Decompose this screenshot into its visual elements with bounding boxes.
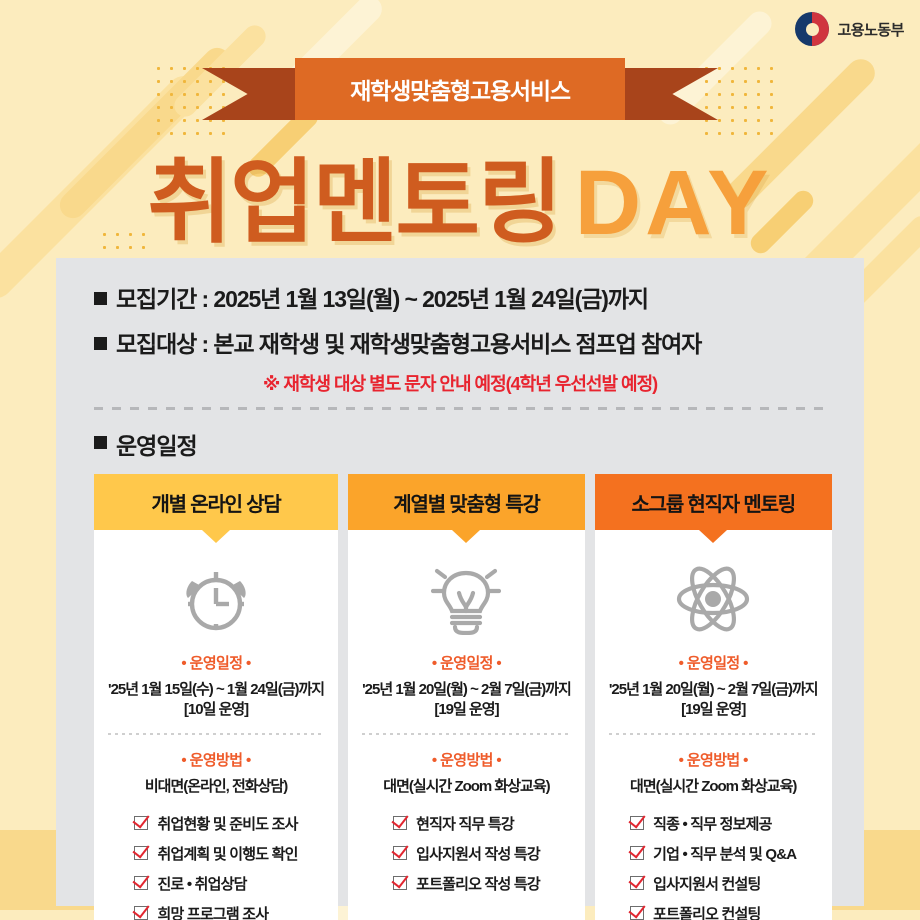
list-item: 취업계획 및 이행도 확인: [134, 843, 297, 864]
square-bullet-icon: [94, 337, 107, 350]
schedule-value: '25년 1월 15일(수) ~ 1월 24일(금)까지 [10일 운영]: [108, 680, 324, 721]
recruit-period-text: 모집기간 : 2025년 1월 13일(월) ~ 2025년 1월 24일(금)…: [116, 280, 648, 314]
program-column-group-mentoring: 소그룹 현직자 멘토링 • 운영일정 • '25년 1월 2: [595, 474, 832, 920]
lightbulb-icon: [431, 556, 501, 642]
recruit-note: ※ 재학생 대상 별도 문자 안내 예정(4학년 우선선발 예정): [94, 370, 826, 396]
schedule-value: '25년 1월 20일(월) ~ 2월 7일(금)까지 [19일 운영]: [362, 680, 571, 721]
column-header-label: 소그룹 현직자 멘토링: [631, 488, 795, 517]
schedule-value: '25년 1월 20일(월) ~ 2월 7일(금)까지 [19일 운영]: [609, 680, 818, 721]
list-item-label: 기업 • 직무 분석 및 Q&A: [653, 843, 796, 864]
ministry-logo: 고용노동부: [795, 12, 904, 46]
column-header-label: 계열별 맞춤형 특강: [393, 488, 539, 517]
list-item: 취업현황 및 준비도 조사: [134, 813, 297, 834]
list-item: 진로 • 취업상담: [134, 873, 297, 894]
list-item: 포트폴리오 컨설팅: [630, 903, 796, 920]
program-columns: 개별 온라인 상담: [94, 474, 826, 920]
list-item: 포트폴리오 작성 특강: [393, 873, 540, 894]
column-header-label: 개별 온라인 상담: [151, 488, 280, 517]
list-item-label: 직종 • 직무 정보제공: [653, 813, 772, 834]
schedule-section-heading: 운영일정: [94, 427, 826, 461]
recruit-target-row: 모집대상 : 본교 재학생 및 재학생맞춤형고용서비스 점프업 참여자: [94, 325, 826, 359]
checkbox-checked-icon: [134, 816, 148, 830]
list-item: 입사지원서 작성 특강: [393, 843, 540, 864]
program-column-special-lecture: 계열별 맞춤형 특강: [348, 474, 585, 920]
inner-divider: [108, 733, 324, 735]
checkbox-checked-icon: [134, 876, 148, 890]
inner-divider: [609, 733, 818, 735]
list-item-label: 포트폴리오 작성 특강: [416, 873, 540, 894]
header-notch-icon: [452, 530, 480, 543]
method-value: 대면(실시간 Zoom 화상교육): [383, 777, 549, 797]
poster-title: 취업멘토링DAY: [0, 128, 920, 261]
poster-root: 고용노동부 재학생맞춤형고용서비스 취업멘토링DAY 모집기간 : 2025년 …: [0, 0, 920, 920]
checklist: 현직자 직무 특강 입사지원서 작성 특강 포트폴리오 작성 특강: [393, 813, 540, 903]
checkbox-checked-icon: [630, 906, 644, 920]
method-value: 비대면(온라인, 전화상담): [145, 777, 287, 797]
schedule-label: • 운영일정 •: [432, 652, 501, 673]
header-notch-icon: [699, 530, 727, 543]
checkbox-checked-icon: [393, 876, 407, 890]
list-item-label: 입사지원서 컨설팅: [653, 873, 760, 894]
list-item-label: 입사지원서 작성 특강: [416, 843, 540, 864]
schedule-label: • 운영일정 •: [679, 652, 748, 673]
header-notch-icon: [202, 530, 230, 543]
schedule-label: • 운영일정 •: [181, 652, 250, 673]
column-header: 개별 온라인 상담: [94, 474, 338, 530]
title-english: DAY: [575, 152, 773, 254]
method-label: • 운영방법 •: [679, 749, 748, 770]
list-item: 희망 프로그램 조사: [134, 903, 297, 920]
checkbox-checked-icon: [134, 906, 148, 920]
checkbox-checked-icon: [393, 846, 407, 860]
list-item: 입사지원서 컨설팅: [630, 873, 796, 894]
square-bullet-icon: [94, 292, 107, 305]
checkbox-checked-icon: [134, 846, 148, 860]
checkbox-checked-icon: [393, 816, 407, 830]
title-korean: 취업멘토링: [148, 152, 561, 254]
list-item-label: 희망 프로그램 조사: [157, 903, 268, 920]
schedule-value-main: '25년 1월 20일(월) ~ 2월 7일(금)까지: [362, 681, 571, 698]
list-item-label: 현직자 직무 특강: [416, 813, 514, 834]
list-item: 기업 • 직무 분석 및 Q&A: [630, 843, 796, 864]
column-body: • 운영일정 • '25년 1월 15일(수) ~ 1월 24일(금)까지 [1…: [94, 530, 338, 920]
alarm-clock-icon: [179, 556, 253, 642]
taegeuk-icon: [795, 12, 829, 46]
schedule-value-sub: [19일 운영]: [609, 700, 818, 720]
ribbon-label: 재학생맞춤형고용서비스: [350, 72, 570, 106]
program-column-online-counseling: 개별 온라인 상담: [94, 474, 338, 920]
checkbox-checked-icon: [630, 846, 644, 860]
ribbon-label-box: 재학생맞춤형고용서비스: [295, 58, 625, 120]
list-item-label: 취업현황 및 준비도 조사: [157, 813, 297, 834]
column-header: 계열별 맞춤형 특강: [348, 474, 585, 530]
content-panel: 모집기간 : 2025년 1월 13일(월) ~ 2025년 1월 24일(금)…: [56, 258, 864, 906]
method-value: 대면(실시간 Zoom 화상교육): [630, 777, 796, 797]
column-body: • 운영일정 • '25년 1월 20일(월) ~ 2월 7일(금)까지 [19…: [348, 530, 585, 920]
ribbon-banner: 재학생맞춤형고용서비스: [0, 58, 920, 124]
checklist: 직종 • 직무 정보제공 기업 • 직무 분석 및 Q&A 입사지원서 컨설팅: [630, 813, 796, 920]
ministry-name: 고용노동부: [837, 19, 904, 40]
recruit-period-row: 모집기간 : 2025년 1월 13일(월) ~ 2025년 1월 24일(금)…: [94, 280, 826, 314]
list-item: 현직자 직무 특강: [393, 813, 540, 834]
inner-divider: [362, 733, 571, 735]
list-item: 직종 • 직무 정보제공: [630, 813, 796, 834]
column-header: 소그룹 현직자 멘토링: [595, 474, 832, 530]
square-bullet-icon: [94, 436, 107, 449]
checklist: 취업현황 및 준비도 조사 취업계획 및 이행도 확인 진로 • 취업상담: [134, 813, 297, 920]
schedule-value-sub: [19일 운영]: [362, 700, 571, 720]
recruit-target-text: 모집대상 : 본교 재학생 및 재학생맞춤형고용서비스 점프업 참여자: [116, 325, 701, 359]
list-item-label: 취업계획 및 이행도 확인: [157, 843, 297, 864]
method-label: • 운영방법 •: [181, 749, 250, 770]
checkbox-checked-icon: [630, 876, 644, 890]
schedule-value-sub: [10일 운영]: [108, 700, 324, 720]
atom-icon: [675, 556, 751, 642]
schedule-heading-text: 운영일정: [116, 427, 197, 461]
column-body: • 운영일정 • '25년 1월 20일(월) ~ 2월 7일(금)까지 [19…: [595, 530, 832, 920]
list-item-label: 진로 • 취업상담: [157, 873, 246, 894]
list-item-label: 포트폴리오 컨설팅: [653, 903, 760, 920]
checkbox-checked-icon: [630, 816, 644, 830]
dashed-divider: [94, 407, 826, 410]
schedule-value-main: '25년 1월 20일(월) ~ 2월 7일(금)까지: [609, 681, 818, 698]
method-label: • 운영방법 •: [432, 749, 501, 770]
schedule-value-main: '25년 1월 15일(수) ~ 1월 24일(금)까지: [108, 681, 324, 698]
